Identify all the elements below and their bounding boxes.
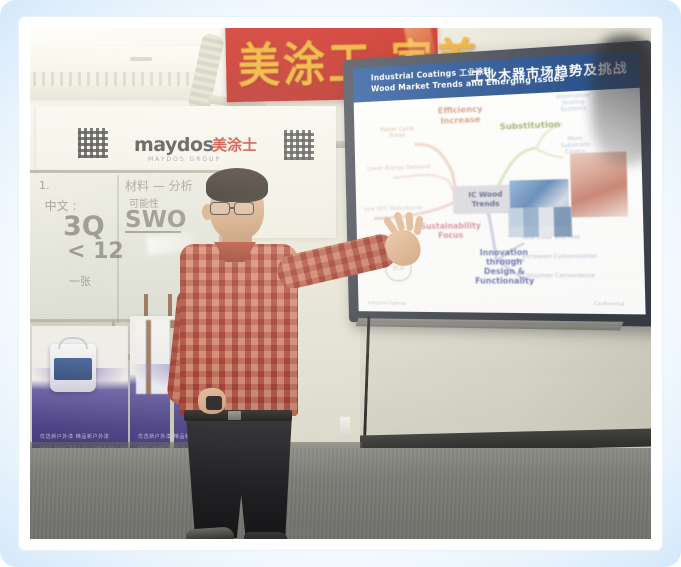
presenter-trousers <box>184 418 294 538</box>
presenter-shoe <box>186 526 235 539</box>
whiteboard-note: 一张 <box>69 273 91 289</box>
qr-code-icon <box>78 128 108 158</box>
banner-cn-text: 优选新户外漆 精品新户外漆 <box>40 433 126 440</box>
glasses-icon <box>234 202 254 215</box>
mindmap-leaf: Increased Customization <box>522 254 597 261</box>
presenter-right-arm <box>274 231 401 292</box>
mindmap-leaf: Consumer Convenience <box>523 273 595 279</box>
photo-frame: 美涂工 家美 maydos 美涂士 MAYDOS GROUP 1. 中文 : 3… <box>0 0 681 567</box>
whiteboard-note: < 12 <box>67 239 124 264</box>
presentation-clicker <box>206 396 222 410</box>
mindmap-leaf: Faster Cycle Times <box>380 126 414 140</box>
belt-buckle <box>228 411 241 420</box>
bucket-handle <box>58 337 88 349</box>
mindmap-branch-efficiency: Efficiency Increase <box>432 104 489 127</box>
photo-image: 美涂工 家美 maydos 美涂士 MAYDOS GROUP 1. 中文 : 3… <box>30 28 651 539</box>
glasses-bridge <box>230 207 235 209</box>
whiteboard-note: 1. <box>39 179 50 192</box>
slide-footer-right: Confidential <box>594 302 625 308</box>
tv-glare <box>589 33 651 166</box>
brand-name-text: maydos <box>134 134 213 156</box>
air-conditioner-display <box>130 57 152 61</box>
brand-tagline: MAYDOS GROUP <box>148 156 221 163</box>
maydos-logo: maydos <box>134 134 213 156</box>
mindmap-leaf: Alternative Sealing Systems <box>551 92 596 113</box>
presenter-person <box>158 166 388 539</box>
paint-bucket-image <box>50 344 96 392</box>
air-conditioner-vent <box>30 72 196 86</box>
glasses-icon <box>210 202 230 215</box>
bucket-label <box>54 358 92 380</box>
whiteboard-note: 3Q <box>63 211 105 242</box>
presenter-shoe <box>244 532 288 539</box>
mindmap-branch-sustainability: Sustainability Focus <box>418 221 483 241</box>
wall-mounted-tv: Industrial Coatings 工业涂料 Wood Market Tre… <box>343 40 651 326</box>
slide-color-swatches <box>508 207 572 238</box>
brand-name-cn: 美涂士 <box>212 134 257 155</box>
presenter-hair <box>206 168 268 202</box>
qr-code-icon <box>284 130 314 160</box>
presenter-finger <box>405 212 413 231</box>
